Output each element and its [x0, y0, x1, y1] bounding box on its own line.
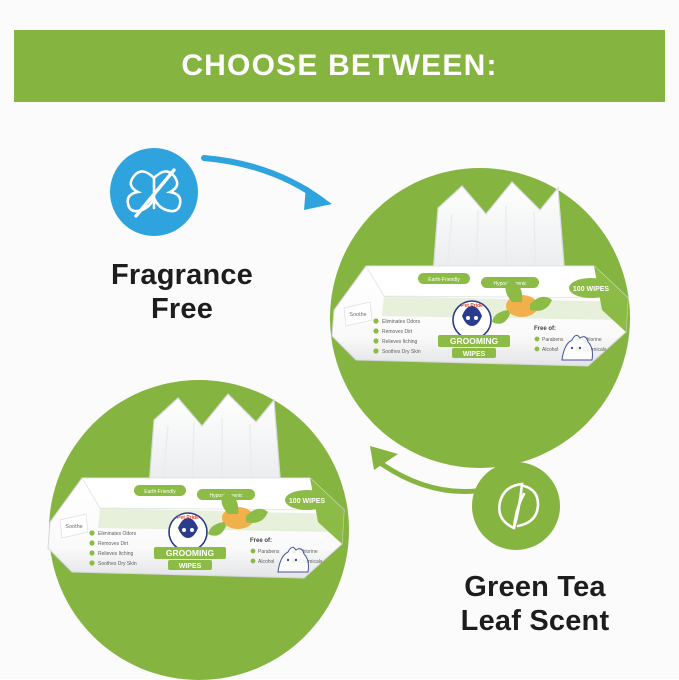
svg-text:Eliminates Odors: Eliminates Odors [98, 531, 137, 537]
green-tea-label-line1: Green Tea [420, 570, 650, 604]
svg-text:Parabens: Parabens [542, 337, 564, 343]
header-banner: CHOOSE BETWEEN: [14, 30, 665, 102]
svg-text:Soothes Dry Skin: Soothes Dry Skin [382, 349, 421, 355]
svg-text:Removes Dirt: Removes Dirt [382, 329, 413, 335]
svg-text:Removes Dirt: Removes Dirt [98, 541, 129, 547]
svg-text:WIPES: WIPES [463, 351, 486, 358]
svg-text:Soothes Dry Skin: Soothes Dry Skin [98, 561, 137, 567]
arrow-bottom [352, 430, 502, 510]
fragrance-free-label-line2: Free [82, 292, 282, 326]
svg-text:Parabens: Parabens [258, 549, 280, 555]
count-badge: 100 WIPES [569, 278, 613, 298]
page-title: CHOOSE BETWEEN: [181, 49, 497, 83]
svg-text:Relieves Itching: Relieves Itching [382, 339, 418, 345]
svg-text:Alcohol: Alcohol [542, 347, 558, 353]
svg-text:Earth-Friendly: Earth-Friendly [144, 489, 176, 495]
product-pack-bottom: Earth-Friendly Hypoallergenic 100 WIPES … [42, 382, 352, 592]
arrow-top [200, 148, 360, 228]
fragrance-free-label: Fragrance Free [82, 258, 282, 326]
svg-text:GROOMING: GROOMING [166, 548, 215, 558]
tag-earth-friendly: Earth-Friendly [428, 277, 460, 283]
fragrance-free-label-line1: Fragrance [82, 258, 282, 292]
svg-text:Soothe: Soothe [65, 524, 82, 530]
svg-text:Relieves Itching: Relieves Itching [98, 551, 134, 557]
svg-text:Pet Pride: Pet Pride [461, 303, 483, 309]
svg-text:Eliminates Odors: Eliminates Odors [382, 319, 421, 325]
pack-body: Earth-Friendly Hypoallergenic 100 WIPES … [48, 478, 344, 578]
svg-text:100 WIPES: 100 WIPES [573, 286, 610, 293]
svg-text:100 WIPES: 100 WIPES [289, 498, 326, 505]
svg-text:Alcohol: Alcohol [258, 559, 274, 565]
svg-text:Soothe: Soothe [349, 312, 366, 318]
product-pack-top: Earth-Friendly Hypoallergenic 100 WIPES … [326, 170, 636, 380]
svg-text:Pet Pride: Pet Pride [177, 515, 199, 521]
svg-text:Free of:: Free of: [250, 538, 272, 544]
brand-logo: Pet Pride [453, 301, 491, 339]
green-tea-label-line2: Leaf Scent [420, 604, 650, 638]
fragrance-free-badge [100, 138, 208, 246]
pack-body: Earth-Friendly Hypoallergenic 100 WIPES … [332, 266, 628, 366]
green-tea-label: Green Tea Leaf Scent [420, 570, 650, 638]
svg-text:WIPES: WIPES [179, 563, 202, 570]
svg-text:GROOMING: GROOMING [450, 336, 499, 346]
svg-text:Free of:: Free of: [534, 326, 556, 332]
